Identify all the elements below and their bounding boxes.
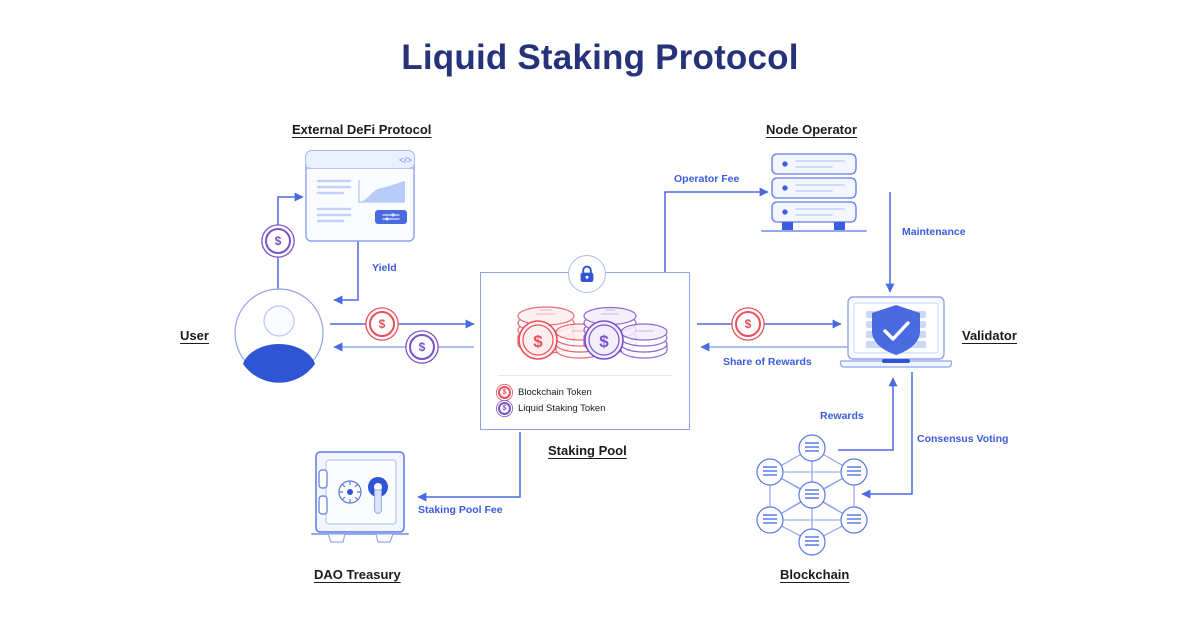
caption-external-defi-protocol: External DeFi Protocol [292,122,431,137]
mesh-node [841,459,867,485]
flow-label-yield: Yield [372,262,397,274]
legend-label-blockchain-token: Blockchain Token [518,387,592,398]
token-marker-pool-to-validator: $ [735,311,761,337]
token-marker-user-to-pool: $ [369,311,395,337]
laptop-shield-icon [840,295,952,375]
arrow-defi-yield-to-user [334,240,358,300]
coin-red-icon: $ [498,386,511,399]
safe-vault-icon [310,450,410,546]
mesh-node [799,482,825,508]
caption-dao-treasury: DAO Treasury [314,567,401,582]
flow-label-rewards: Rewards [820,410,864,422]
mesh-node [757,507,783,533]
svg-text:$: $ [533,332,543,351]
lock-glyph [579,265,595,283]
network-mesh-icon [752,434,872,554]
svg-text:$: $ [599,332,609,351]
legend-label-liquid-staking-token: Liquid Staking Token [518,403,606,414]
server-rack-icon [760,152,868,238]
svg-text:</>: </> [399,155,412,165]
token-marker-pool-to-user: $ [409,334,435,360]
lock-icon [568,255,606,293]
mesh-node [757,459,783,485]
caption-node-operator: Node Operator [766,122,857,137]
pool-legend-divider [498,375,673,376]
user-avatar-icon [234,288,324,378]
caption-blockchain: Blockchain [780,567,849,582]
flow-label-maintenance: Maintenance [902,226,966,238]
arrow-pool-to-node-operator [665,192,768,272]
mesh-node [841,507,867,533]
caption-validator: Validator [962,328,1017,343]
mesh-node [799,529,825,555]
legend-item-liquid-staking-token: $ Liquid Staking Token [498,400,606,416]
dashboard-window-icon: </> [305,150,415,242]
arrow-pool-to-dao-treasury [418,432,520,497]
caption-staking-pool: Staking Pool [548,443,627,458]
flow-label-share-of-rewards: Share of Rewards [723,356,812,368]
token-marker-user-to-defi: $ [265,228,291,254]
mesh-node [799,435,825,461]
diagram-canvas: Liquid Staking Protocol [0,0,1200,630]
pool-legend: $ Blockchain Token $ Liquid Staking Toke… [498,384,606,416]
flow-label-consensus-voting: Consensus Voting [917,433,1008,445]
legend-item-blockchain-token: $ Blockchain Token [498,384,606,400]
coin-stacks-icon: $ $ [498,288,676,368]
caption-user: User [180,328,209,343]
flow-label-operator-fee: Operator Fee [674,173,739,185]
flow-label-staking-pool-fee: Staking Pool Fee [418,504,503,516]
coin-purple-icon: $ [498,402,511,415]
